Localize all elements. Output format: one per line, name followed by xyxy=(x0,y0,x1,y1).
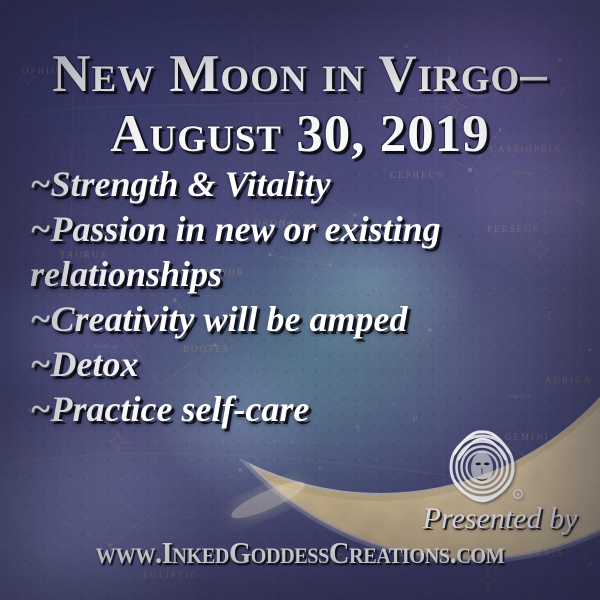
presented-by-text: Presented by xyxy=(400,503,600,535)
list-item: relationships xyxy=(30,252,570,297)
website-url: www.InkedGoddessCreations.com xyxy=(24,536,576,570)
list-item: ~Strength & Vitality xyxy=(30,162,570,207)
page-title: New Moon in Virgo– August 30, 2019 xyxy=(0,44,600,164)
bullet-list: ~Strength & Vitality ~Passion in new or … xyxy=(30,162,570,432)
new-moon-poster: OPHIUCHUS HERCULES CEPHEUS CASSIOPEIA PE… xyxy=(0,0,600,600)
title-line-2: August 30, 2019 xyxy=(0,104,600,164)
triple-moon-goddess-logo: R xyxy=(430,424,534,510)
list-item: ~Detox xyxy=(30,342,570,387)
title-line-1: New Moon in Virgo– xyxy=(52,45,548,103)
list-item: ~Creativity will be amped xyxy=(30,297,570,342)
list-item: ~Passion in new or existing xyxy=(30,207,570,252)
